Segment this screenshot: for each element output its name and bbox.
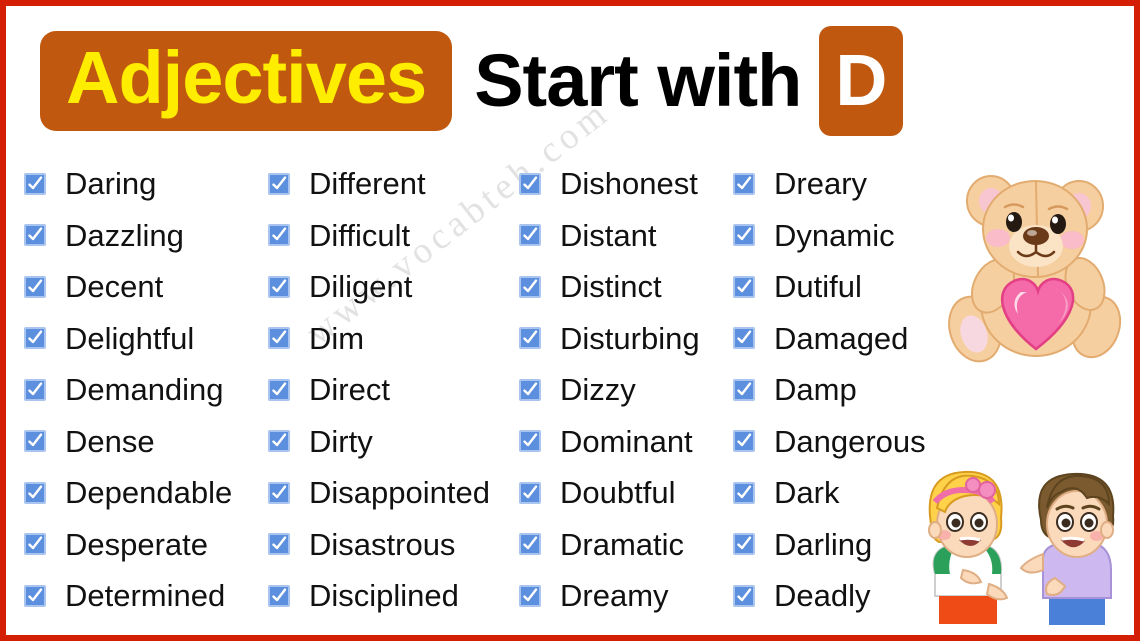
word-list-item[interactable]: Dim — [268, 313, 519, 365]
word-label: Disappointed — [309, 477, 490, 508]
word-list-item[interactable]: Dynamic — [733, 210, 968, 262]
word-label: Disastrous — [309, 529, 455, 560]
word-label: Deadly — [774, 580, 871, 611]
poster-page: Adjectives Start with D www.vocabteh.com… — [0, 0, 1140, 641]
checkbox-checked-icon[interactable] — [268, 585, 290, 607]
word-label: Dense — [65, 426, 155, 457]
word-label: Dangerous — [774, 426, 926, 457]
word-label: Dramatic — [560, 529, 684, 560]
word-list-item[interactable]: Dominant — [519, 416, 733, 468]
word-label: Different — [309, 168, 426, 199]
word-list-item[interactable]: Dreary — [733, 158, 968, 210]
page-header: Adjectives Start with D — [6, 6, 1134, 156]
word-label: Damp — [774, 374, 857, 405]
checkbox-checked-icon[interactable] — [24, 430, 46, 452]
word-label: Dazzling — [65, 220, 184, 251]
checkbox-checked-icon[interactable] — [24, 276, 46, 298]
word-list-item[interactable]: Disturbing — [519, 313, 733, 365]
word-list-item[interactable]: Dangerous — [733, 416, 968, 468]
word-list-item[interactable]: Dishonest — [519, 158, 733, 210]
word-label: Determined — [65, 580, 225, 611]
title-badge: Adjectives — [40, 31, 452, 131]
word-column-1: DaringDazzlingDecentDelightfulDemandingD… — [24, 158, 268, 622]
word-label: Doubtful — [560, 477, 675, 508]
checkbox-checked-icon[interactable] — [733, 430, 755, 452]
checkbox-checked-icon[interactable] — [24, 585, 46, 607]
word-label: Dishonest — [560, 168, 698, 199]
checkbox-checked-icon[interactable] — [268, 482, 290, 504]
checkbox-checked-icon[interactable] — [519, 173, 541, 195]
checkbox-checked-icon[interactable] — [733, 379, 755, 401]
teddy-bear-with-heart-image — [948, 164, 1128, 369]
word-label: Dependable — [65, 477, 232, 508]
word-list-item[interactable]: Distant — [519, 210, 733, 262]
word-list-item[interactable]: Desperate — [24, 519, 268, 571]
two-children-talking-image — [891, 462, 1126, 627]
checkbox-checked-icon[interactable] — [733, 327, 755, 349]
checkbox-checked-icon[interactable] — [519, 430, 541, 452]
checkbox-checked-icon[interactable] — [24, 482, 46, 504]
word-list-item[interactable]: Dazzling — [24, 210, 268, 262]
title-plain-text: Start with — [474, 44, 801, 118]
word-list-item[interactable]: Direct — [268, 364, 519, 416]
checkbox-checked-icon[interactable] — [268, 533, 290, 555]
word-label: Distant — [560, 220, 656, 251]
word-list-item[interactable]: Disappointed — [268, 467, 519, 519]
word-label: Dizzy — [560, 374, 636, 405]
checkbox-checked-icon[interactable] — [519, 379, 541, 401]
word-label: Daring — [65, 168, 156, 199]
word-list-item[interactable]: Distinct — [519, 261, 733, 313]
word-label: Dutiful — [774, 271, 862, 302]
checkbox-checked-icon[interactable] — [733, 173, 755, 195]
word-label: Delightful — [65, 323, 194, 354]
checkbox-checked-icon[interactable] — [519, 533, 541, 555]
checkbox-checked-icon[interactable] — [24, 379, 46, 401]
checkbox-checked-icon[interactable] — [24, 327, 46, 349]
word-label: Dominant — [560, 426, 693, 457]
word-list-item[interactable]: Dramatic — [519, 519, 733, 571]
word-list-item[interactable]: Doubtful — [519, 467, 733, 519]
checkbox-checked-icon[interactable] — [519, 276, 541, 298]
word-list-item[interactable]: Demanding — [24, 364, 268, 416]
word-list-item[interactable]: Delightful — [24, 313, 268, 365]
word-list-item[interactable]: Diligent — [268, 261, 519, 313]
word-list-item[interactable]: Determined — [24, 570, 268, 622]
word-label: Damaged — [774, 323, 908, 354]
title-badge-text: Adjectives — [66, 41, 426, 115]
word-label: Demanding — [65, 374, 224, 405]
word-label: Disturbing — [560, 323, 700, 354]
checkbox-checked-icon[interactable] — [24, 533, 46, 555]
checkbox-checked-icon[interactable] — [268, 327, 290, 349]
word-column-3: DishonestDistantDistinctDisturbingDizzyD… — [519, 158, 733, 622]
word-list-item[interactable]: Difficult — [268, 210, 519, 262]
word-list-item[interactable]: Damaged — [733, 313, 968, 365]
checkbox-checked-icon[interactable] — [733, 482, 755, 504]
checkbox-checked-icon[interactable] — [268, 430, 290, 452]
word-label: Difficult — [309, 220, 410, 251]
word-list-item[interactable]: Dirty — [268, 416, 519, 468]
word-label: Direct — [309, 374, 390, 405]
checkbox-checked-icon[interactable] — [733, 585, 755, 607]
word-list-item[interactable]: Dense — [24, 416, 268, 468]
letter-badge-text: D — [835, 45, 887, 117]
word-list-item[interactable]: Damp — [733, 364, 968, 416]
checkbox-checked-icon[interactable] — [733, 276, 755, 298]
letter-badge: D — [819, 26, 903, 136]
word-list-item[interactable]: Dutiful — [733, 261, 968, 313]
word-label: Dreamy — [560, 580, 669, 611]
word-label: Dreary — [774, 168, 867, 199]
checkbox-checked-icon[interactable] — [268, 224, 290, 246]
word-label: Decent — [65, 271, 163, 302]
word-label: Darling — [774, 529, 872, 560]
checkbox-checked-icon[interactable] — [519, 585, 541, 607]
word-label: Dark — [774, 477, 839, 508]
word-label: Dynamic — [774, 220, 895, 251]
word-label: Diligent — [309, 271, 412, 302]
word-list-item[interactable]: Decent — [24, 261, 268, 313]
checkbox-checked-icon[interactable] — [519, 224, 541, 246]
checkbox-checked-icon[interactable] — [733, 224, 755, 246]
checkbox-checked-icon[interactable] — [519, 482, 541, 504]
word-list-item[interactable]: Daring — [24, 158, 268, 210]
checkbox-checked-icon[interactable] — [24, 173, 46, 195]
word-list-item[interactable]: Dreamy — [519, 570, 733, 622]
word-list-item[interactable]: Dizzy — [519, 364, 733, 416]
word-list-item[interactable]: Dependable — [24, 467, 268, 519]
word-list-item[interactable]: Disciplined — [268, 570, 519, 622]
word-label: Disciplined — [309, 580, 459, 611]
word-list-item[interactable]: Disastrous — [268, 519, 519, 571]
checkbox-checked-icon[interactable] — [268, 276, 290, 298]
word-label: Distinct — [560, 271, 662, 302]
word-label: Dirty — [309, 426, 373, 457]
word-column-2: DifferentDifficultDiligentDimDirectDirty… — [268, 158, 519, 622]
word-label: Dim — [309, 323, 364, 354]
checkbox-checked-icon[interactable] — [24, 224, 46, 246]
checkbox-checked-icon[interactable] — [519, 327, 541, 349]
checkbox-checked-icon[interactable] — [268, 379, 290, 401]
word-list-item[interactable]: Different — [268, 158, 519, 210]
word-label: Desperate — [65, 529, 208, 560]
checkbox-checked-icon[interactable] — [733, 533, 755, 555]
checkbox-checked-icon[interactable] — [268, 173, 290, 195]
